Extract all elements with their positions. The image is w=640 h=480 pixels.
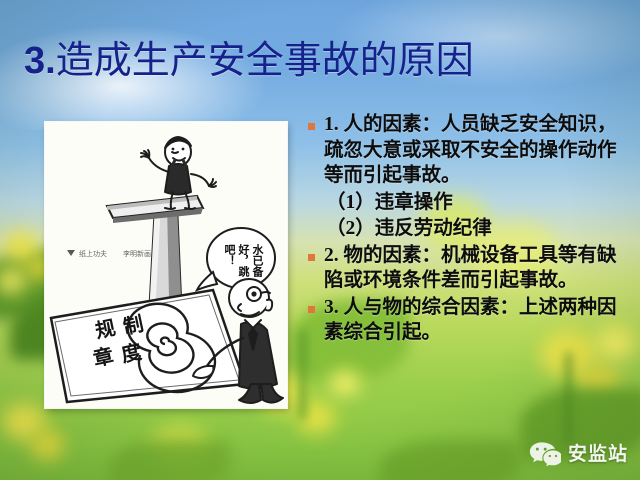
watermark-label: 安监站 xyxy=(568,439,628,466)
bullet-marker-icon xyxy=(308,254,315,261)
title-number: 3. xyxy=(24,40,56,82)
bullet-text: 1. 人的因素：人员缺乏安全知识，疏忽大意或采取不安全的操作动作等而引起事故。 xyxy=(324,112,634,189)
page-title: 3.造成生产安全事故的原因 xyxy=(24,38,474,84)
svg-text:水已备: 水已备 xyxy=(251,243,265,278)
wechat-icon xyxy=(529,440,561,466)
illustration-panel: 水已备 好，跳 吧！ 纸上功夫 李明新画 xyxy=(45,122,287,408)
svg-text:李明新画: 李明新画 xyxy=(123,249,151,258)
bullet-text: （1）违章操作 xyxy=(324,190,634,216)
list-item: （1）违章操作 xyxy=(308,190,634,216)
bullet-text: 2. 物的因素：机械设备工具等有缺陷或环境条件差而引起事故。 xyxy=(324,243,634,294)
bullet-text: （2）违反劳动纪律 xyxy=(324,216,634,242)
bullet-list: 1. 人的因素：人员缺乏安全知识，疏忽大意或采取不安全的操作动作等而引起事故。 … xyxy=(308,112,634,347)
bullet-marker-icon xyxy=(308,123,315,130)
cartoon-diver-illustration: 水已备 好，跳 吧！ 纸上功夫 李明新画 xyxy=(45,122,287,408)
slide-canvas: 3.造成生产安全事故的原因 xyxy=(0,0,640,480)
list-item: 3. 人与物的综合因素：上述两种因素综合引起。 xyxy=(308,295,634,346)
list-item: 2. 物的因素：机械设备工具等有缺陷或环境条件差而引起事故。 xyxy=(308,243,634,294)
svg-text:纸上功夫: 纸上功夫 xyxy=(79,249,107,258)
svg-text:好，跳: 好，跳 xyxy=(237,243,251,278)
list-item: （2）违反劳动纪律 xyxy=(308,216,634,242)
bullet-text: 3. 人与物的综合因素：上述两种因素综合引起。 xyxy=(324,295,634,346)
title-text: 造成生产安全事故的原因 xyxy=(56,40,474,82)
bullet-marker-icon xyxy=(308,306,315,313)
svg-text:吧！: 吧！ xyxy=(223,244,236,266)
watermark: 安监站 xyxy=(529,439,628,466)
list-item: 1. 人的因素：人员缺乏安全知识，疏忽大意或采取不安全的操作动作等而引起事故。 xyxy=(308,112,634,189)
